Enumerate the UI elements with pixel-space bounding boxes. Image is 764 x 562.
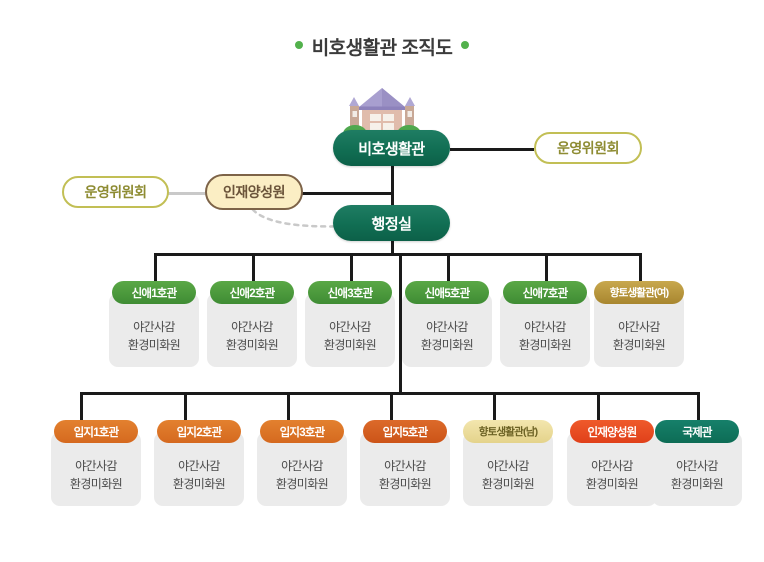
unit-card-body: 야간사감 환경미화원 [51,432,141,506]
bus-line-row1 [154,253,642,256]
unit-card-header[interactable]: 신애5호관 [405,281,489,304]
unit-card-body: 야간사감 환경미화원 [207,293,297,367]
unit-role-1: 야간사감 [487,460,529,472]
unit-card-body: 야간사감 환경미화원 [594,293,684,367]
unit-card-title: 신애1호관 [132,285,177,301]
unit-role-2: 환경미화원 [613,339,665,351]
unit-role-2: 환경미화원 [482,478,534,490]
unit-role-2: 환경미화원 [379,478,431,490]
connector-left-committee-to-talent [168,192,208,195]
unit-card-body: 야간사감 환경미화원 [109,293,199,367]
page-title: 비호생활관 조직도 [0,33,764,60]
drop-row1-3 [350,253,353,281]
unit-card-title: 향토생활관(남) [479,424,538,439]
drop-row1-5 [545,253,548,281]
unit-card-body: 야간사감 환경미화원 [305,293,395,367]
unit-role-1: 야간사감 [133,321,175,333]
unit-card-header[interactable]: 신애3호관 [308,281,392,304]
unit-role-1: 야간사감 [231,321,273,333]
drop-row2-5 [493,392,496,420]
unit-card-header[interactable]: 입지5호관 [363,420,447,443]
unit-card-header[interactable]: 향토생활관(남) [463,420,553,443]
unit-card-body: 야간사감 환경미화원 [402,293,492,367]
node-root-bihogenerator[interactable]: 비호생활관 [333,130,450,166]
unit-role-2: 환경미화원 [421,339,473,351]
unit-card-header[interactable]: 입지3호관 [260,420,344,443]
unit-role-1: 야간사감 [178,460,220,472]
title-dot-left-icon [295,41,303,49]
unit-role-1: 야간사감 [524,321,566,333]
node-left-operating-committee-label: 운영위원회 [85,182,147,202]
unit-card-title: 신애3호관 [328,285,373,301]
unit-card-header[interactable]: 국제관 [655,420,739,443]
unit-role-2: 환경미화원 [324,339,376,351]
unit-role-2: 환경미화원 [519,339,571,351]
unit-role-1: 야간사감 [75,460,117,472]
unit-card-body: 야간사감 환경미화원 [257,432,347,506]
unit-card-body: 야간사감 환경미화원 [567,432,657,506]
node-admin-office-label: 행정실 [372,213,412,234]
drop-row1-2 [252,253,255,281]
unit-role-2: 환경미화원 [128,339,180,351]
unit-card-title: 입지2호관 [177,424,222,440]
unit-card-title: 신애5호관 [425,285,470,301]
drop-row2-6 [597,392,600,420]
connector-talent-to-trunk [300,192,393,195]
unit-card-title: 국제관 [682,424,711,440]
title-dot-right-icon [461,41,469,49]
unit-role-2: 환경미화원 [173,478,225,490]
page-title-text: 비호생활관 조직도 [312,33,453,60]
unit-card-header[interactable]: 신애7호관 [503,281,587,304]
unit-card-header[interactable]: 입지1호관 [54,420,138,443]
node-left-operating-committee[interactable]: 운영위원회 [62,176,169,208]
unit-card-header[interactable]: 신애1호관 [112,281,196,304]
unit-role-1: 야간사감 [384,460,426,472]
drop-row2-2 [184,392,187,420]
unit-card-body: 야간사감 환경미화원 [500,293,590,367]
unit-card-title: 입지1호관 [74,424,119,440]
unit-role-2: 환경미화원 [226,339,278,351]
node-right-operating-committee-label: 운영위원회 [557,138,619,158]
unit-card-title: 신애2호관 [230,285,275,301]
drop-row2-1 [80,392,83,420]
unit-card-body: 야간사감 환경미화원 [652,432,742,506]
unit-card-header[interactable]: 인재양성원 [570,420,654,443]
unit-card-title: 신애7호관 [523,285,568,301]
unit-card-header[interactable]: 향토생활관(여) [594,281,684,304]
unit-card-body: 야간사감 환경미화원 [154,432,244,506]
org-chart-canvas: 비호생활관 조직도 [0,0,764,562]
unit-card-body: 야간사감 환경미화원 [360,432,450,506]
node-talent-development-center-label: 인재양성원 [223,182,285,202]
node-root-label: 비호생활관 [358,138,425,159]
unit-card-header[interactable]: 신애2호관 [210,281,294,304]
drop-row2-7 [697,392,700,420]
node-talent-development-center[interactable]: 인재양성원 [205,174,303,210]
unit-role-2: 환경미화원 [70,478,122,490]
unit-card-title: 입지3호관 [280,424,325,440]
unit-card-title: 인재양성원 [588,424,637,440]
unit-role-1: 야간사감 [281,460,323,472]
unit-role-1: 야간사감 [591,460,633,472]
unit-card-header[interactable]: 입지2호관 [157,420,241,443]
drop-row1-6 [639,253,642,281]
unit-role-1: 야간사감 [676,460,718,472]
unit-role-2: 환경미화원 [276,478,328,490]
drop-row2-3 [287,392,290,420]
node-admin-office[interactable]: 행정실 [333,205,450,241]
unit-card-body: 야간사감 환경미화원 [463,432,553,506]
drop-row1-1 [154,253,157,281]
unit-role-1: 야간사감 [329,321,371,333]
drop-row2-4 [390,392,393,420]
unit-role-2: 환경미화원 [671,478,723,490]
drop-row1-4 [447,253,450,281]
unit-card-title: 향토생활관(여) [610,285,669,300]
unit-role-1: 야간사감 [426,321,468,333]
unit-role-2: 환경미화원 [586,478,638,490]
connector-root-to-right-committee [450,148,534,151]
node-right-operating-committee[interactable]: 운영위원회 [534,132,642,164]
unit-card-title: 입지5호관 [383,424,428,440]
unit-role-1: 야간사감 [618,321,660,333]
